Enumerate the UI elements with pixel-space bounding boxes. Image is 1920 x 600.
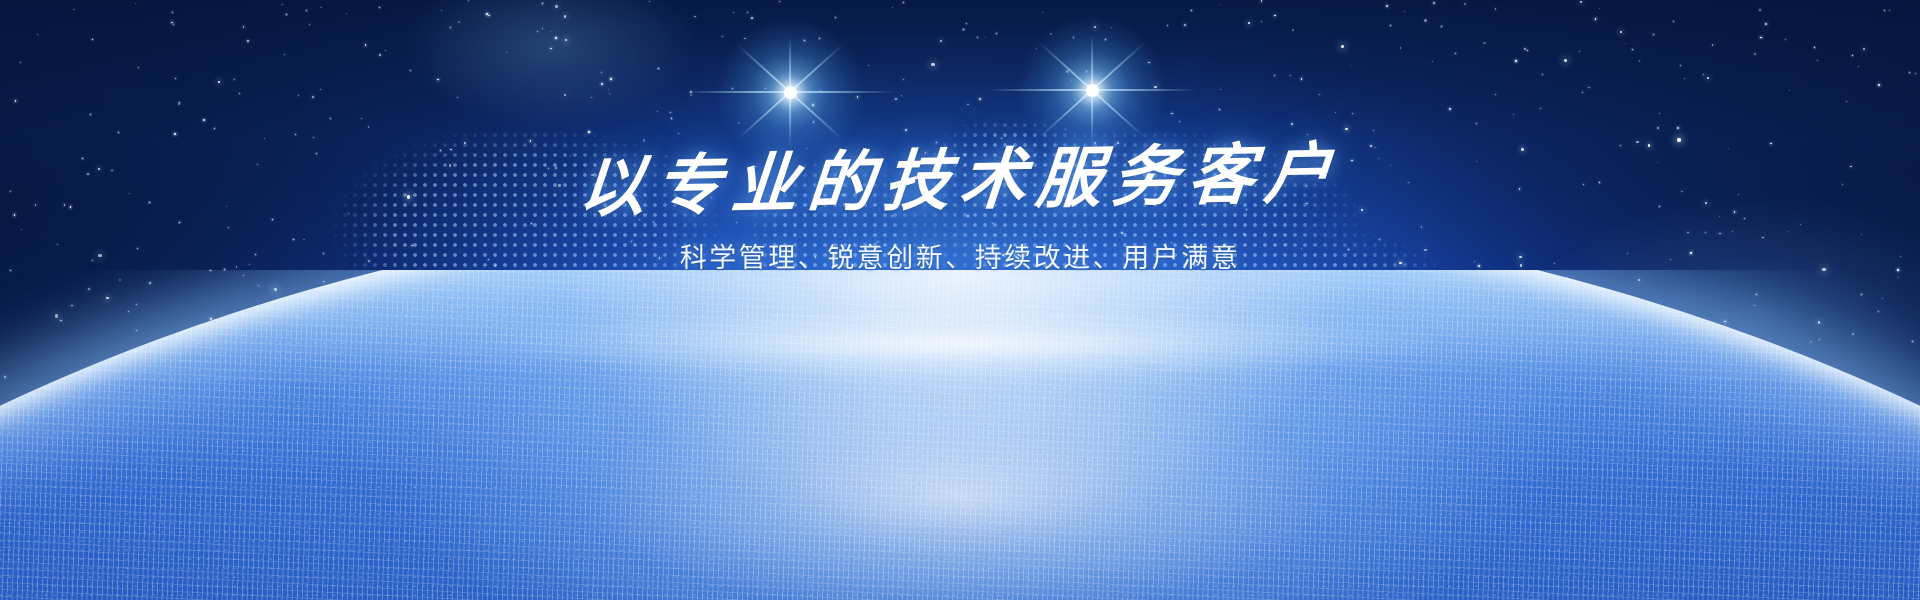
horizon-light-beam [110, 284, 1810, 404]
hero-banner: 以专业的技术服务客户 科学管理、锐意创新、持续改进、用户满意 [0, 0, 1920, 600]
